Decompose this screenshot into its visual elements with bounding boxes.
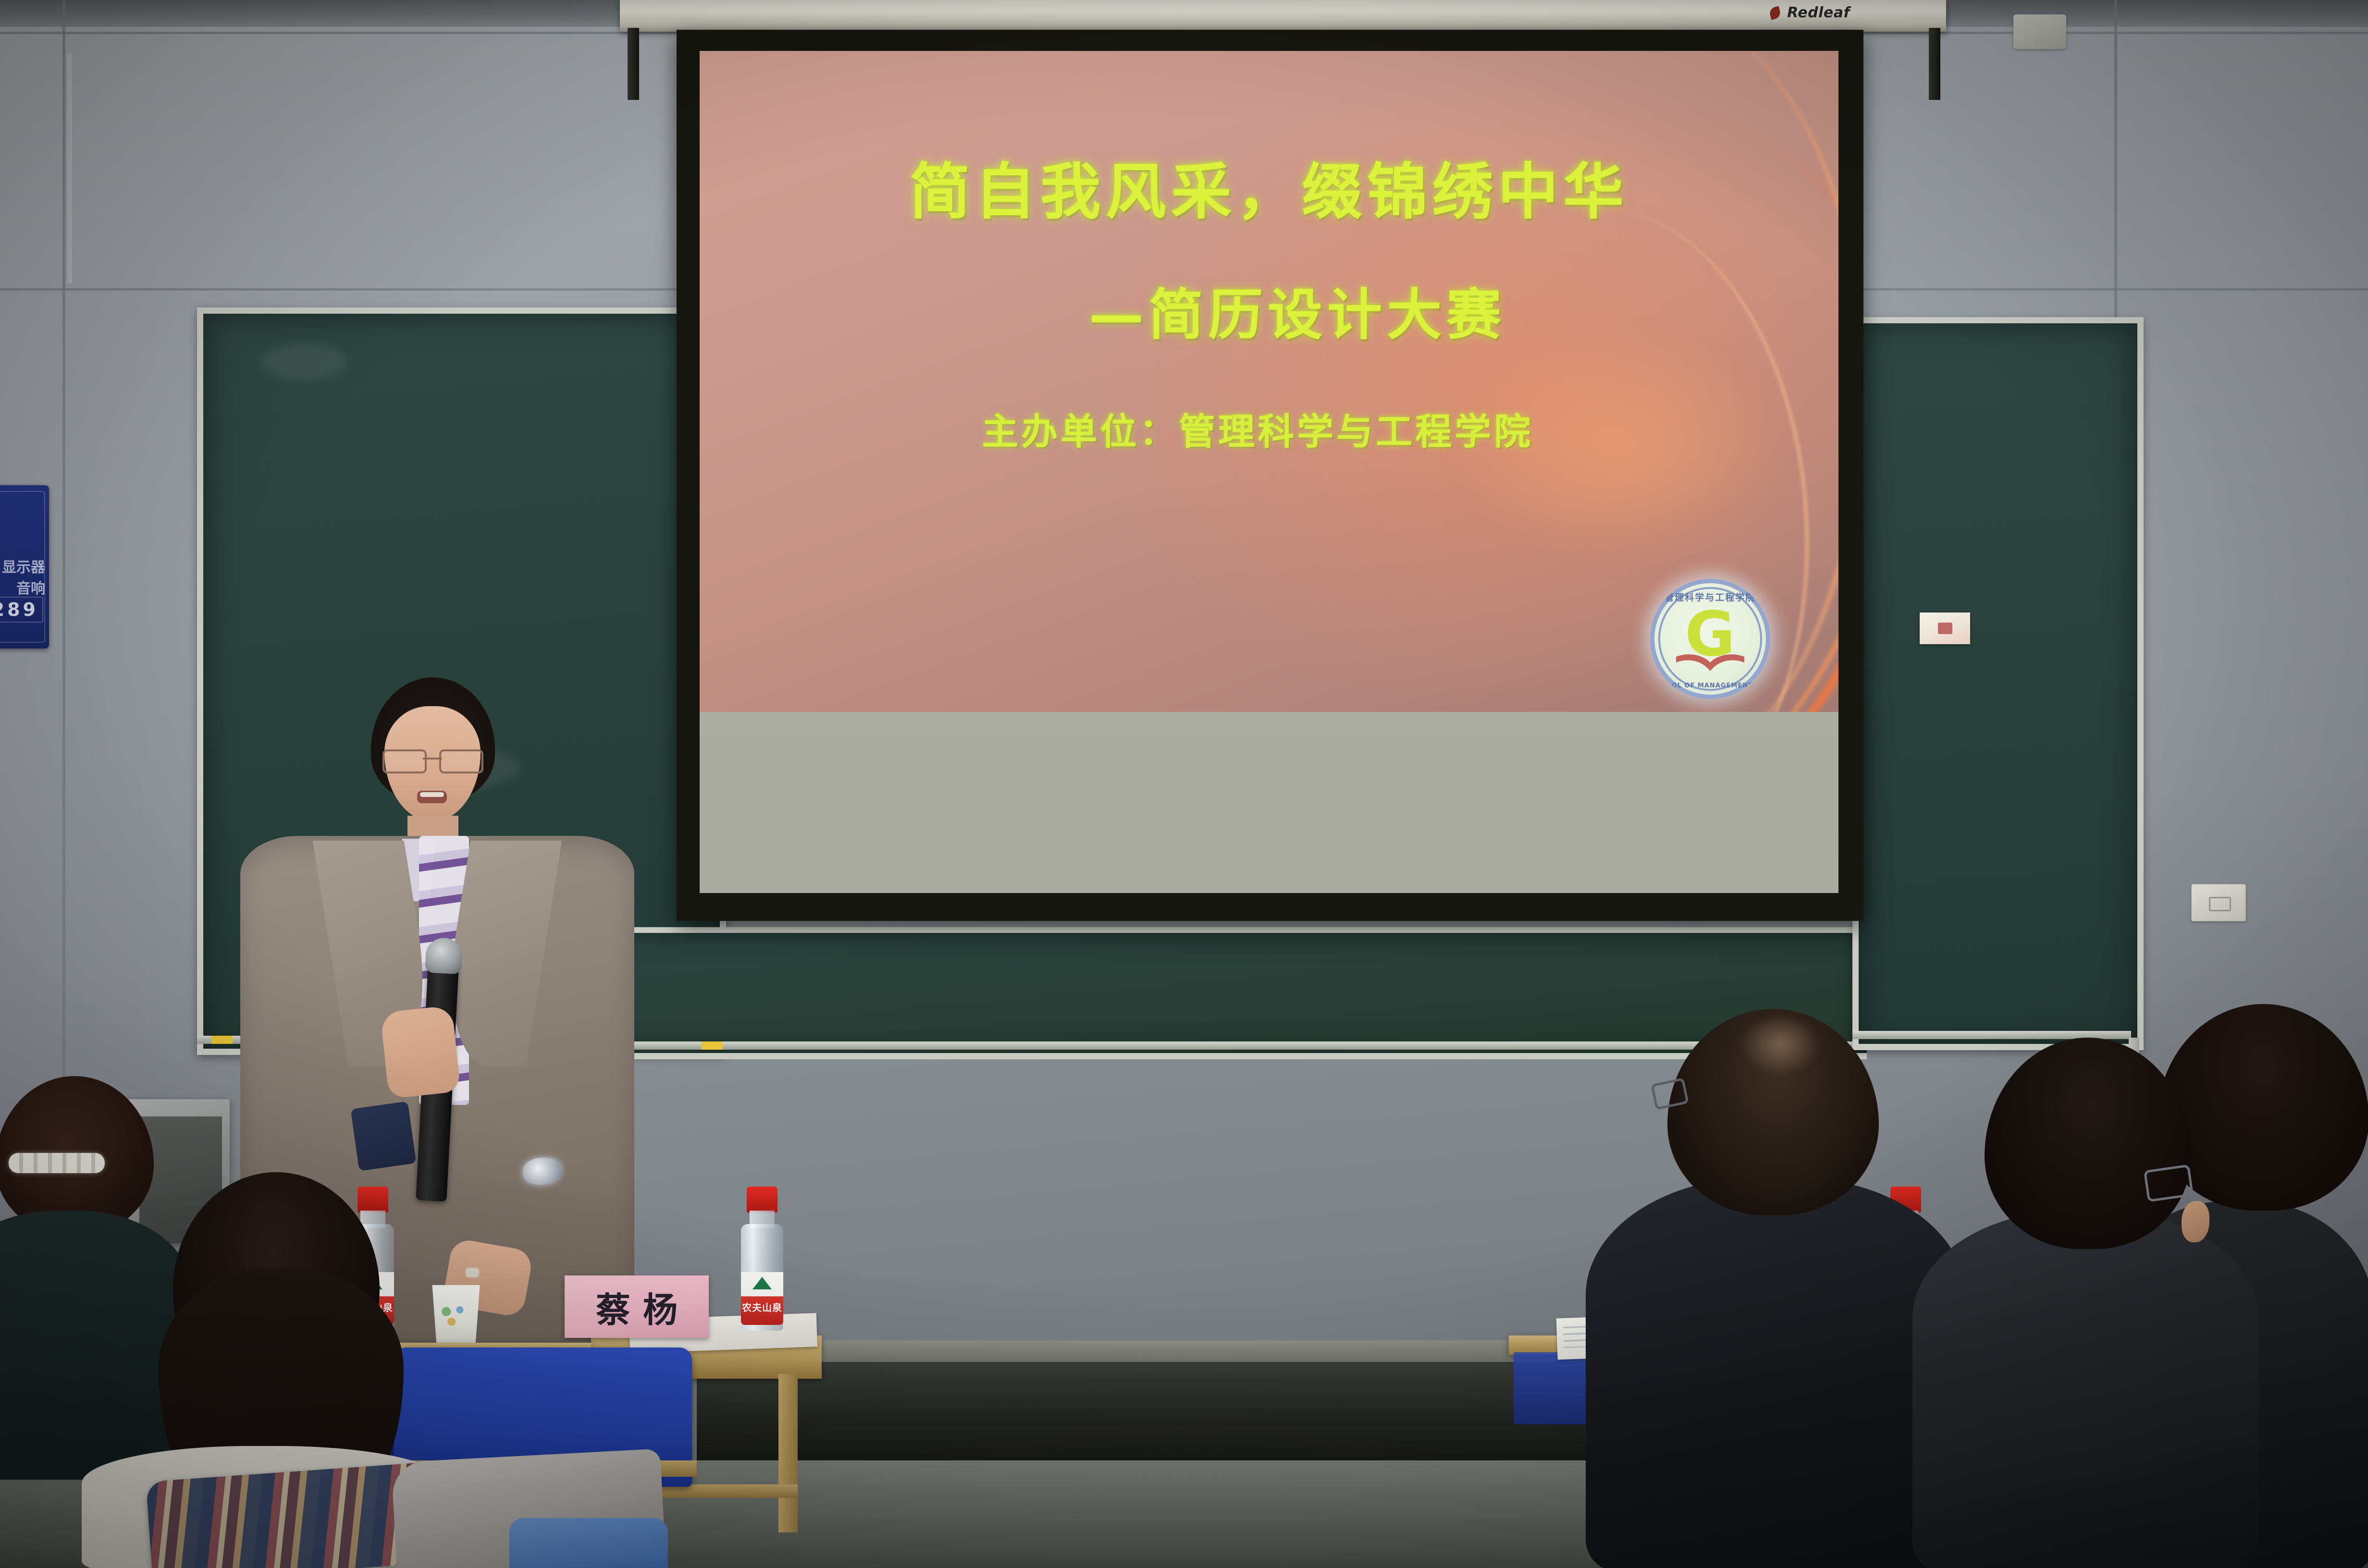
screen-surface: 简自我风采，缀锦绣中华 —简历设计大赛 主办单位：管理科学与工程学院 管理科学与… [700, 51, 1838, 893]
lecture-hall-photo: 显示器 音响 289 Redleaf [0, 0, 2368, 1568]
chalkboard-right [1852, 317, 2144, 1050]
audience-body [1586, 1177, 1965, 1568]
desk-leg [778, 1374, 798, 1532]
blue-bag [509, 1518, 668, 1568]
ceiling-vent-icon [2013, 14, 2066, 49]
wall-equipment-sign: 显示器 音响 289 [0, 485, 49, 649]
ring-icon [466, 1268, 479, 1277]
chalk-tray-cap [211, 1036, 233, 1044]
open-book-icon [1674, 652, 1746, 674]
board-paper-sticker [1920, 612, 1970, 644]
speaker-sleeve-cuff [351, 1101, 417, 1171]
university-logo: 管理科学与工程学院 G SCHOOL OF MANAGEMENT SCIENCE… [1650, 579, 1770, 699]
brooch-icon [523, 1158, 561, 1185]
speaker-hand-holding-mic [380, 1005, 461, 1099]
logo-arc-bottom-text: SCHOOL OF MANAGEMENT SCIENCE AND ENGINEE… [1650, 682, 1770, 689]
bottle-cap [358, 1187, 388, 1213]
glasses-icon [382, 749, 483, 771]
slide-title-line-1: 简自我风采，缀锦绣中华 [910, 159, 1628, 226]
sticker-stamp-icon [1938, 623, 1952, 634]
leaf-icon [1768, 6, 1781, 20]
glasses-icon [2144, 1164, 2194, 1202]
sign-room-number: 289 [0, 597, 43, 623]
screen-brand-text: Redleaf [1787, 4, 1850, 21]
hair-clip-icon [9, 1153, 105, 1173]
bottle-cap [747, 1187, 777, 1213]
bottle-brand-text: 农夫山泉 [741, 1300, 783, 1314]
slide-organizer-line: 主办单位：管理科学与工程学院 [982, 402, 1533, 455]
slide-title-line-2: —简历设计大赛 [1089, 285, 1506, 345]
chalk-tray-cap [702, 1041, 723, 1050]
glasses-lens-left [382, 749, 427, 773]
presentation-slide: 简自我风采，缀锦绣中华 —简历设计大赛 主办单位：管理科学与工程学院 管理科学与… [700, 51, 1838, 712]
screen-mount-left [628, 28, 639, 100]
projection-screen: 简自我风采，缀锦绣中华 —简历设计大赛 主办单位：管理科学与工程学院 管理科学与… [677, 30, 1863, 921]
projection-screen-housing: Redleaf [620, 0, 1946, 32]
sign-text-line-2: 音响 [16, 579, 45, 599]
mountain-icon [752, 1277, 772, 1289]
audience-hairline [1739, 1018, 1821, 1076]
bottle-label: 农夫山泉 [741, 1272, 783, 1325]
screen-mount-right [1929, 28, 1940, 100]
name-placard-text: 蔡杨 [583, 1282, 690, 1332]
paper-cup[interactable] [428, 1285, 484, 1347]
chalk-tray-center [569, 1041, 1867, 1050]
wall-seam-vertical-left [62, 0, 65, 1105]
audience-ear [2182, 1201, 2209, 1242]
wall-panel-edge [67, 53, 72, 283]
audience-body [1912, 1211, 2258, 1568]
wall-outlet-icon[interactable] [2191, 884, 2246, 921]
water-bottle[interactable]: 农夫山泉 [740, 1187, 784, 1331]
screen-brand-label: Redleaf [1770, 4, 1850, 21]
chalk-smudge [261, 343, 347, 381]
sign-text-line-1: 显示器 [2, 558, 45, 578]
cup-decoration-icon [441, 1305, 467, 1326]
name-placard: 蔡杨 [565, 1275, 709, 1338]
glasses-lens-right [439, 749, 483, 773]
speaker-mouth [417, 791, 447, 803]
chalkboard-center-band [569, 927, 1867, 1059]
